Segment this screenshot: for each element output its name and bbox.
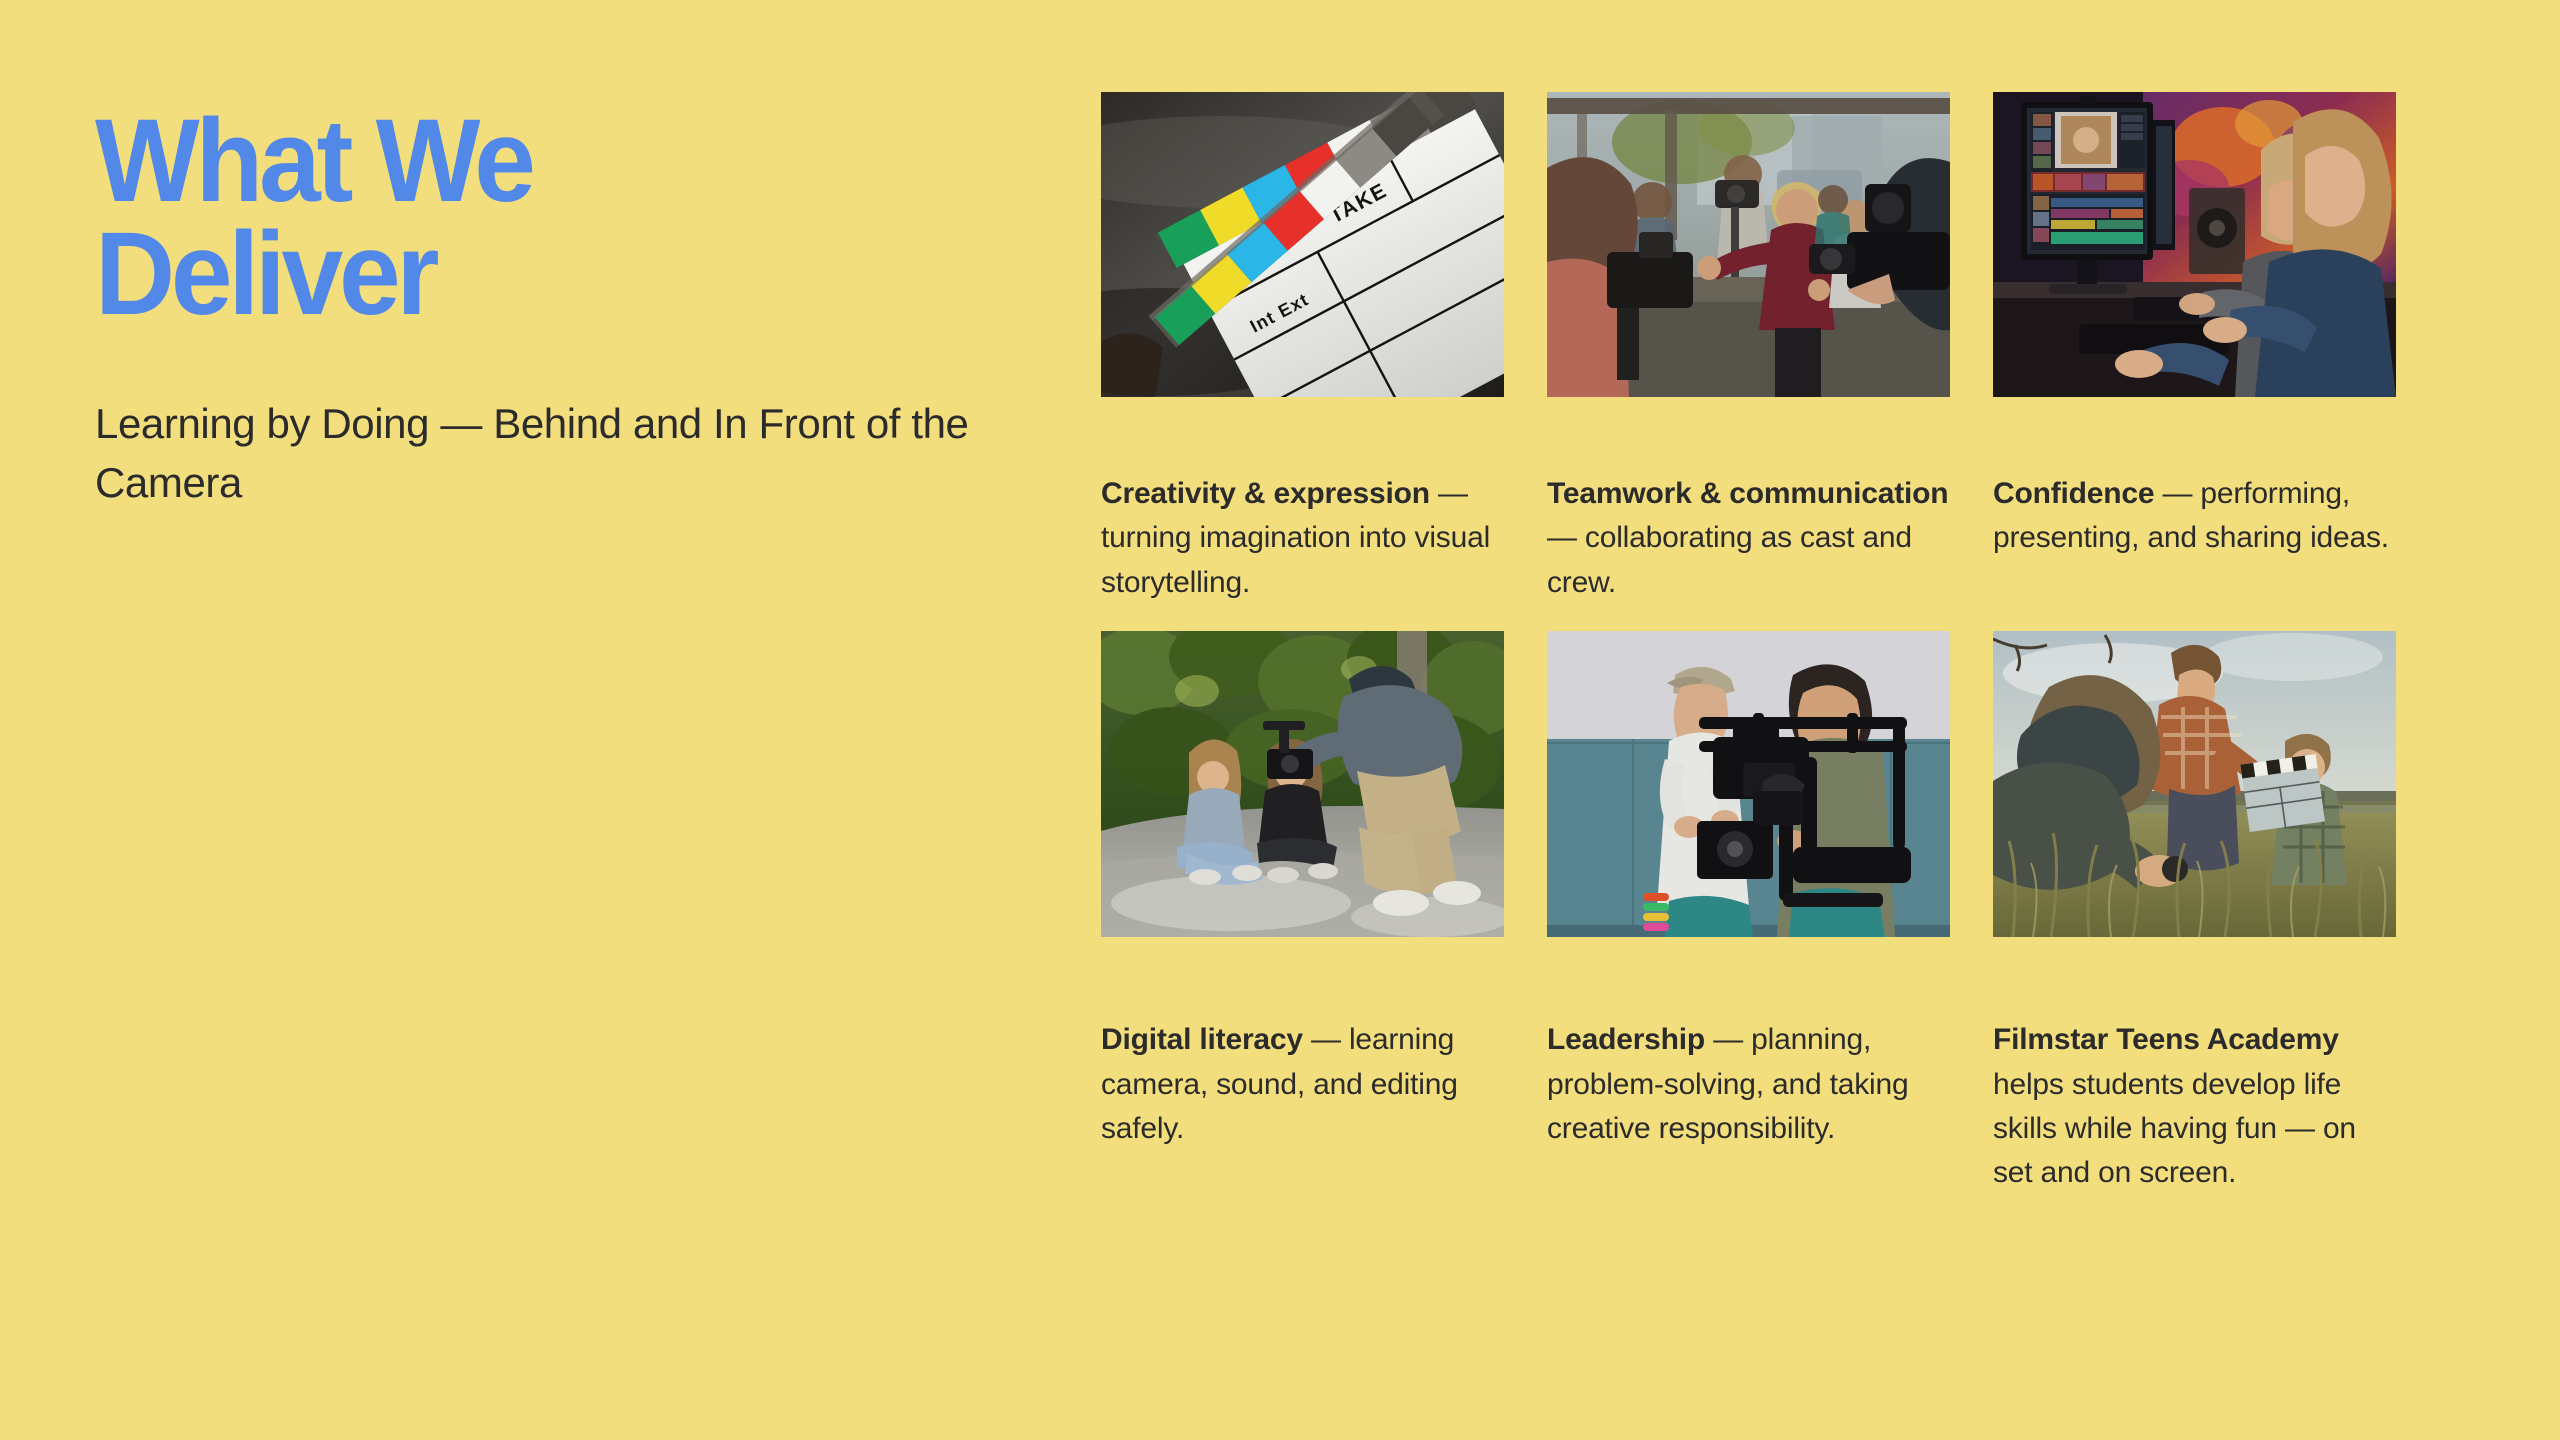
card-caption-bold: Leadership [1547, 1023, 1705, 1056]
card-caption: Teamwork & communication — collaborating… [1547, 472, 1950, 605]
deliverable-card: SCENE TAKE Int Ext [1101, 92, 1504, 605]
card-caption-rest: helps students develop life skills while… [1993, 1068, 2356, 1190]
editing-suite-illustration [1993, 92, 2396, 397]
clapperboard-photo: SCENE TAKE Int Ext [1101, 92, 1504, 397]
editing-suite-photo [1993, 92, 2396, 397]
field-shoot-illustration [1993, 631, 2396, 937]
kids-on-set-photo [1547, 92, 1950, 397]
deliverable-card: Confidence — performing, presenting, and… [1993, 92, 2396, 605]
deliverable-card: Digital literacy — learning camera, soun… [1101, 631, 1504, 1196]
card-caption: Creativity & expression — turning imagin… [1101, 472, 1504, 605]
page-subtitle: Learning by Doing — Behind and In Front … [95, 394, 1075, 513]
card-caption-bold: Filmstar Teens Academy [1993, 1023, 2339, 1056]
field-shoot-photo [1993, 631, 2396, 937]
card-caption-bold: Digital literacy [1101, 1023, 1303, 1056]
deliverables-grid: SCENE TAKE Int Ext [1101, 92, 2395, 1196]
forest-shoot-illustration [1101, 631, 1504, 937]
card-caption: Filmstar Teens Academy helps students de… [1993, 1018, 2396, 1196]
card-caption: Leadership — planning, problem-solving, … [1547, 1018, 1950, 1151]
steadicam-crew-photo [1547, 631, 1950, 937]
page-title: What We Deliver [95, 105, 1016, 332]
deliverable-card: Leadership — planning, problem-solving, … [1547, 631, 1950, 1196]
card-caption-rest: — collaborating as cast and crew. [1547, 521, 1912, 598]
card-caption-bold: Confidence [1993, 477, 2154, 510]
deliverable-card: Filmstar Teens Academy helps students de… [1993, 631, 2396, 1196]
clapperboard-illustration: SCENE TAKE Int Ext [1101, 92, 1504, 397]
card-caption-bold: Creativity & expression [1101, 477, 1430, 510]
deliverable-card: Teamwork & communication — collaborating… [1547, 92, 1950, 605]
steadicam-crew-illustration [1547, 631, 1950, 937]
card-caption: Digital literacy — learning camera, soun… [1101, 1018, 1504, 1151]
forest-shoot-photo [1101, 631, 1504, 937]
grid-row-spacer [1101, 605, 2396, 631]
card-caption-bold: Teamwork & communication [1547, 477, 1948, 510]
kids-on-set-illustration [1547, 92, 1950, 397]
intro-block: What We Deliver Learning by Doing — Behi… [95, 105, 1075, 513]
card-caption: Confidence — performing, presenting, and… [1993, 472, 2396, 561]
